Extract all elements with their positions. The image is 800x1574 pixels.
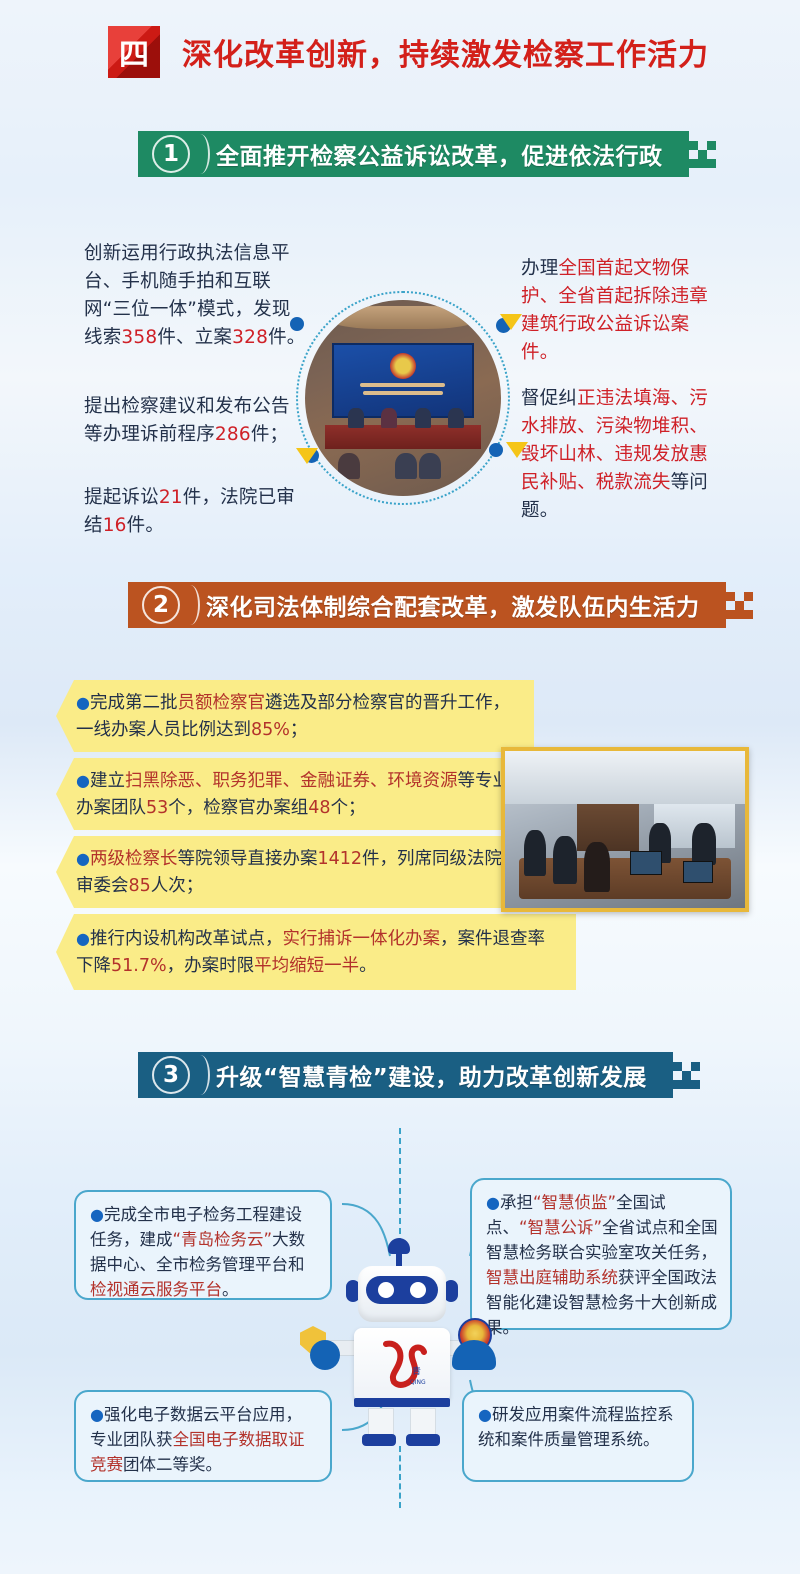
internal-reform-bullet: ●推行内设机构改革试点，实行捕诉一体化办案，案件退查率下降51.7%，办案时限平… (56, 914, 576, 990)
text-run: 和 (288, 1255, 305, 1274)
text-run: 件； (251, 424, 288, 445)
section-1-title: 全面推开检察公益诉讼改革，促进依法行政 (216, 137, 663, 171)
photo-ceiling (505, 751, 745, 804)
section-1-number: 1 (152, 135, 190, 173)
photo-monitor (683, 861, 713, 883)
section-3-title: 升级“智慧青检”建设，助力改革创新发展 (216, 1058, 647, 1092)
robot-foot-right (406, 1434, 440, 1446)
robot-mascot: 青 QING (332, 1248, 472, 1448)
e-data-platform-box: ●强化电子数据云平台应用，专业团队获全国电子数据取证竞赛团体二等奖。 (74, 1390, 332, 1482)
photo-person (448, 408, 464, 428)
text-run: 智慧出庭辅助系统 (486, 1268, 618, 1287)
text-run: 328 (232, 327, 268, 348)
text-run: 两级检察长 (90, 849, 178, 869)
svg-text:QING: QING (410, 1379, 426, 1386)
page-title: 深化改革创新，持续激发检察工作活力 (182, 30, 709, 74)
text-run: “智慧公诉” (519, 1218, 602, 1237)
photo-audience (419, 453, 441, 479)
text-run: 85% (251, 720, 290, 740)
section-1-bar: 1 全面推开检察公益诉讼改革，促进依法行政 (138, 131, 689, 177)
section-number-text: 四 (119, 30, 149, 74)
press-conference-photo (305, 300, 501, 496)
main-title-row: 四 深化改革创新，持续激发检察工作活力 (108, 26, 709, 78)
section-2-divider (184, 585, 200, 625)
text-run: ，办案时限 (167, 956, 255, 976)
text-run: 286 (215, 424, 251, 445)
pre-litigation-block: 提出检察建议和发布公告等办理诉前程序286件； (84, 393, 308, 449)
text-run: 53 (146, 798, 168, 818)
section-2-title: 深化司法体制综合配套改革，激发队伍内生活力 (206, 588, 700, 622)
text-run: 实行捕诉一体化办案 (282, 929, 440, 949)
text-run: 21 (159, 487, 183, 508)
text-run: 件、立案 (157, 327, 232, 348)
section-3-divider (194, 1055, 210, 1095)
text-run: 提起诉讼 (84, 487, 159, 508)
lawsuit-block: 提起诉讼21件，法院已审结16件。 (84, 484, 308, 540)
robot-visor (366, 1276, 438, 1304)
photo-wall-panel (577, 804, 639, 851)
deco-dot-blue-1 (290, 317, 304, 331)
bullet-icon: ● (76, 849, 90, 868)
specialized-teams-bullet: ●建立扫黑除恶、职务犯罪、金融证券、环境资源等专业办案团队53个，检察官办案组4… (56, 758, 534, 830)
photo-caption-line-1 (360, 383, 445, 387)
photo-person (415, 408, 431, 428)
section-2-header: 2 深化司法体制综合配套改革，激发队伍内生活力 (128, 582, 754, 628)
photo-audience (338, 453, 360, 479)
case-monitoring-box: ●研发应用案件流程监控系统和案件质量管理系统。 (462, 1390, 694, 1482)
text-run: 。 (222, 1280, 239, 1299)
smart-pilot-box: ●承担“智慧侦监”全国试点、“智慧公诉”全省试点和全国智慧检务联合实验室攻关任务… (470, 1178, 732, 1330)
chief-prosecutor-bullet: ●两级检察长等院领导直接办案1412件，列席同级法院审委会85人次； (56, 836, 534, 908)
supervision-block: 督促纠正违法填海、污水排放、污染物堆积、毁坏山林、违规发放惠民补贴、税款流失等问… (521, 385, 721, 525)
section-3-checker-decoration (673, 1052, 701, 1098)
text-run: 85 (129, 876, 151, 896)
deco-triangle-yellow-1 (500, 314, 522, 330)
emblem-base (452, 1340, 496, 1370)
deco-triangle-yellow-3 (506, 442, 528, 458)
text-run: 建立 (90, 771, 125, 791)
section-3-bar: 3 升级“智慧青检”建设，助力改革创新发展 (138, 1052, 673, 1098)
bullet-icon: ● (478, 1405, 492, 1424)
photo-person (381, 408, 397, 428)
deco-triangle-yellow-2 (296, 448, 318, 464)
bullet-icon: ● (90, 1205, 104, 1224)
deco-dot-blue-4 (489, 443, 503, 457)
text-run: 平均缩短一半 (254, 956, 359, 976)
text-run: 。 (359, 956, 377, 976)
text-run: 等院领导直接办案 (177, 849, 317, 869)
photo-person (348, 408, 364, 428)
bullet-icon: ● (76, 693, 90, 712)
bullet-icon: ● (76, 771, 90, 790)
bullet-icon: ● (486, 1193, 500, 1212)
photo-person (553, 836, 577, 884)
section-1-header: 1 全面推开检察公益诉讼改革，促进依法行政 (138, 131, 717, 177)
robot-eye-right (410, 1282, 426, 1298)
text-run: “智慧侦监” (533, 1193, 616, 1212)
photo-person (584, 842, 610, 892)
text-run: “青岛检务云” (173, 1230, 273, 1249)
first-case-block: 办理全国首起文物保护、全省首起拆除违章建筑行政公益诉讼案件。 (521, 255, 721, 367)
text-run: 个； (331, 798, 366, 818)
text-run: 个，检察官办案组 (168, 798, 308, 818)
text-run: 完成第二批 (90, 693, 178, 713)
quota-prosecutor-bullet: ●完成第二批员额检察官遴选及部分检察官的晋升工作，一线办案人员比例达到85%； (56, 680, 534, 752)
text-run: ； (290, 720, 308, 740)
text-run: 51.7% (111, 956, 167, 976)
bullet-icon: ● (76, 929, 90, 948)
text-run: 16 (103, 515, 127, 536)
connector-line-top (399, 1128, 401, 1244)
photo-emblem (390, 353, 416, 379)
bullet-icon: ● (90, 1405, 104, 1424)
photo-led-screen (332, 343, 473, 417)
text-run: 研发应用案件流程监控系统和案件质量管理系统。 (478, 1405, 673, 1449)
robot-antenna (396, 1248, 402, 1268)
text-run: 件。 (127, 515, 164, 536)
e-procuratorate-box: ●完成全市电子检务工程建设任务，建成“青岛检务云”大数据中心、全市检务管理平台和… (74, 1190, 332, 1300)
text-run: 推行内设机构改革试点， (90, 929, 283, 949)
innovation-platform-block: 创新运用行政执法信息平台、手机随手拍和互联网“三位一体”模式，发现线索358件、… (84, 240, 308, 352)
qingjian-logo-icon: 青 QING (376, 1340, 430, 1390)
text-run: 员额检察官 (177, 693, 265, 713)
section-1-divider (194, 134, 210, 174)
text-run: 团体二等奖。 (123, 1455, 222, 1474)
section-3-number: 3 (152, 1056, 190, 1094)
photo-table (325, 425, 482, 449)
shield-base-blue (310, 1340, 340, 1370)
svg-text:青: 青 (412, 1365, 421, 1377)
text-run: 358 (121, 327, 157, 348)
section-number-badge: 四 (108, 26, 160, 78)
robot-ear-right (444, 1280, 458, 1302)
text-run: 48 (308, 798, 330, 818)
text-run: 检视通云服务平台 (90, 1280, 222, 1299)
infographic-page: 四 深化改革创新，持续激发检察工作活力 1 全面推开检察公益诉讼改革，促进依法行… (0, 0, 800, 1574)
section-2-checker-decoration (726, 582, 754, 628)
photo-ceiling (325, 306, 482, 330)
section-2-bar: 2 深化司法体制综合配套改革，激发队伍内生活力 (128, 582, 726, 628)
text-run: 督促纠 (521, 388, 577, 409)
photo-monitor (630, 851, 662, 875)
photo-person (692, 823, 716, 865)
section-1-checker-decoration (689, 131, 717, 177)
photo-person (524, 830, 546, 876)
text-run: 人次； (151, 876, 204, 896)
robot-eye-left (378, 1282, 394, 1298)
robot-foot-left (362, 1434, 396, 1446)
connector-line-bottom (399, 1446, 401, 1508)
robot-belt (354, 1398, 450, 1407)
text-run: 办理 (521, 258, 558, 279)
text-run: 1412 (317, 849, 362, 869)
text-run: 扫黑除恶、职务犯罪、金融证券、环境资源 (125, 771, 458, 791)
section-2-number: 2 (142, 586, 180, 624)
meeting-photo (501, 747, 749, 912)
photo-caption-line-2 (363, 391, 443, 395)
photo-audience (395, 453, 417, 479)
text-run: 承担 (500, 1193, 533, 1212)
section-3-header: 3 升级“智慧青检”建设，助力改革创新发展 (138, 1052, 701, 1098)
